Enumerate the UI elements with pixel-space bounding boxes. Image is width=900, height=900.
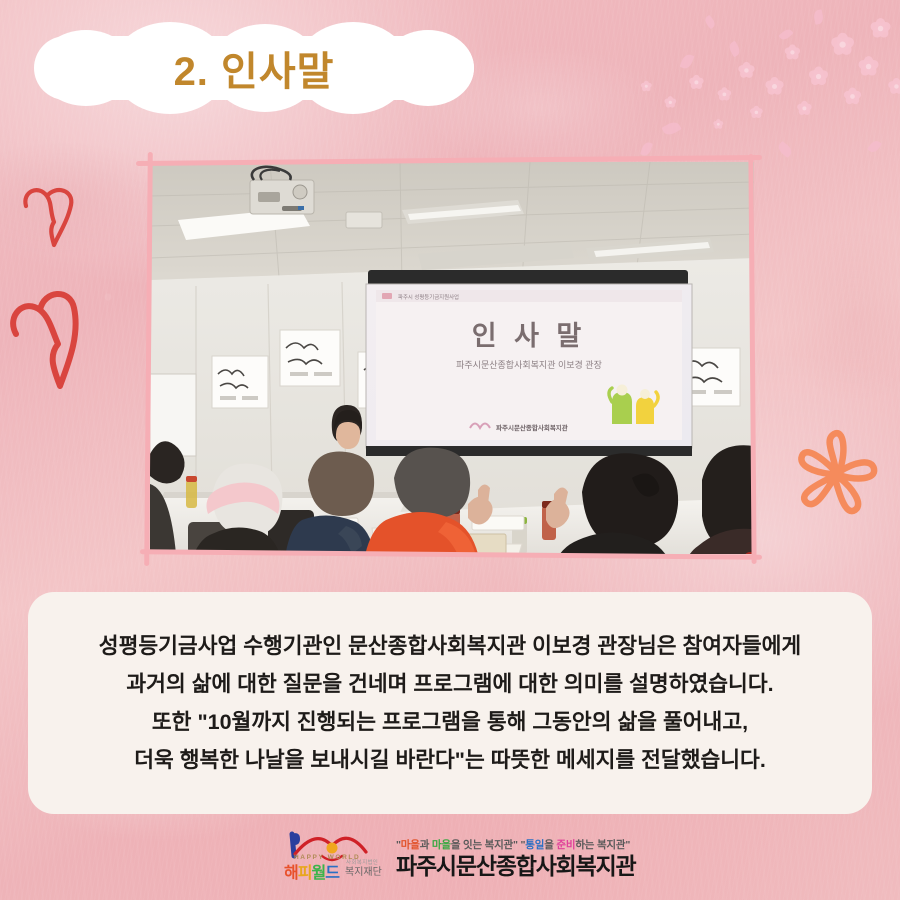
footer-slogan: "마을과 마을을 잇는 복지관" "통일을 준비하는 복지관" [396,839,636,852]
event-photo-block: 파주시 성평등기금지원사업 인 사 말 파주시문산종합사회복지관 이보경 관장 … [136,152,766,562]
organization-name: 파주시문산종합사회복지관 [396,854,636,879]
logo-foundation-label: 복지재단 [345,868,382,878]
svg-text:파주시 성평등기금지원사업: 파주시 성평등기금지원사업 [398,293,459,301]
description-line-4: 더욱 행복한 나날을 보내시길 바란다"는 따뜻한 메세지를 전달했습니다. [134,741,766,779]
event-photo: 파주시 성평등기금지원사업 인 사 말 파주시문산종합사회복지관 이보경 관장 … [150,162,754,554]
heart-doodle-small [16,182,82,254]
happyworld-logo: HAPPY WORLD 해피월드 사회복지법인 복지재단 [282,830,386,888]
slogan-text-1: 과 [420,839,432,851]
slogan-word-prepare: 준비 [556,839,575,851]
description-line-3: 또한 "10월까지 진행되는 프로그램을 통해 그동안의 삶을 풀어내고, [152,703,748,741]
svg-text:파주시문산종합사회복지관 이보경 관장: 파주시문산종합사회복지관 이보경 관장 [456,359,602,370]
slogan-text-4: 하는 복지관" [575,839,630,851]
svg-text:인 사 말: 인 사 말 [472,321,587,351]
slide-title-badge: 2. 인사말 [34,22,474,114]
footer: HAPPY WORLD 해피월드 사회복지법인 복지재단 "마을과 마을을 잇는… [0,830,900,896]
heart-doodle-large [4,278,116,396]
svg-text:파주시문산종합사회복지관: 파주시문산종합사회복지관 [496,423,568,432]
description-panel: 성평등기금사업 수행기관인 문산종합사회복지관 이보경 관장님은 참여자들에게 … [28,592,872,814]
logo-korean-name: 해피월드 [284,866,339,882]
slogan-word-unification: 통일 [525,839,544,851]
logo-entity-type: 사회복지법인 [346,858,378,866]
description-line-1: 성평등기금사업 수행기관인 문산종합사회복지관 이보경 관장님은 참여자들에게 [99,627,801,665]
card-news-slide: 2. 인사말 [0,0,900,900]
footer-text-block: "마을과 마을을 잇는 복지관" "통일을 준비하는 복지관" 파주시문산종합사… [396,839,636,879]
slogan-text-2: 을 잇는 복지관" " [451,839,525,851]
slogan-word-village-2: 마을 [432,839,451,851]
flower-doodle [790,428,882,525]
slogan-word-village-1: 마을 [401,839,420,851]
slogan-text-3: 을 [544,839,556,851]
description-line-2: 과거의 삶에 대한 질문을 건네며 프로그램에 대한 의미를 설명하였습니다. [126,665,773,703]
page-title: 2. 인사말 [34,22,474,114]
